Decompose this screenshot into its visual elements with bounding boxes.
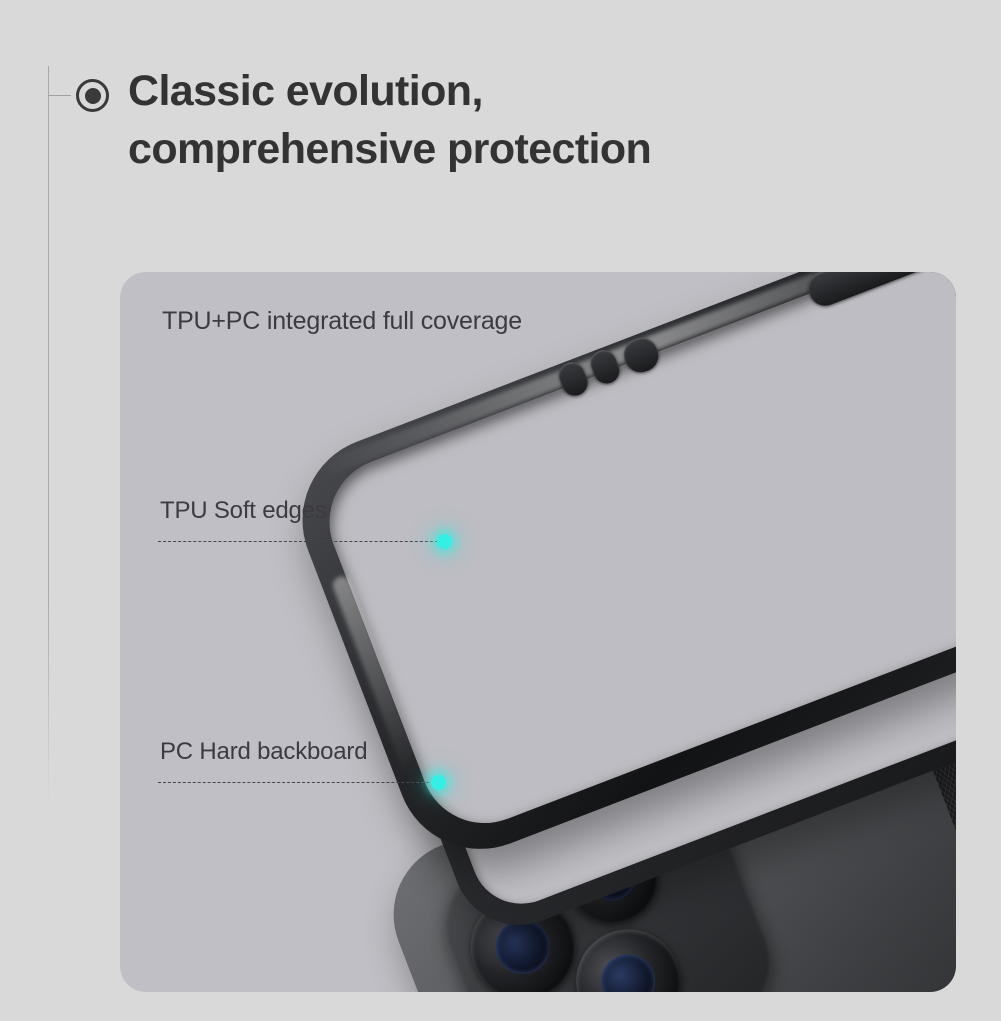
bumper-highlight (317, 272, 956, 478)
annotation-label: TPU Soft edges (160, 497, 327, 525)
camera-lens (561, 914, 695, 992)
product-illustration (120, 272, 956, 992)
card-title: TPU+PC integrated full coverage (162, 307, 522, 336)
annotation-leader-line (158, 782, 439, 783)
left-rail-line (48, 66, 49, 806)
page-title: Classic evolution, comprehensive protect… (128, 62, 928, 179)
bumper-button-ridge (804, 272, 939, 311)
target-dot-icon (76, 79, 109, 112)
product-feature-card: TPU+PC integrated full coverage (120, 272, 956, 992)
callout-dot-icon (437, 534, 452, 549)
callout-dot-icon (431, 775, 446, 790)
left-rail-tick (49, 95, 71, 96)
annotation-leader-line (158, 541, 443, 542)
annotation-label: PC Hard backboard (160, 738, 367, 766)
page-title-line-1: Classic evolution, (128, 62, 928, 120)
page-title-line-2: comprehensive protection (128, 120, 928, 178)
